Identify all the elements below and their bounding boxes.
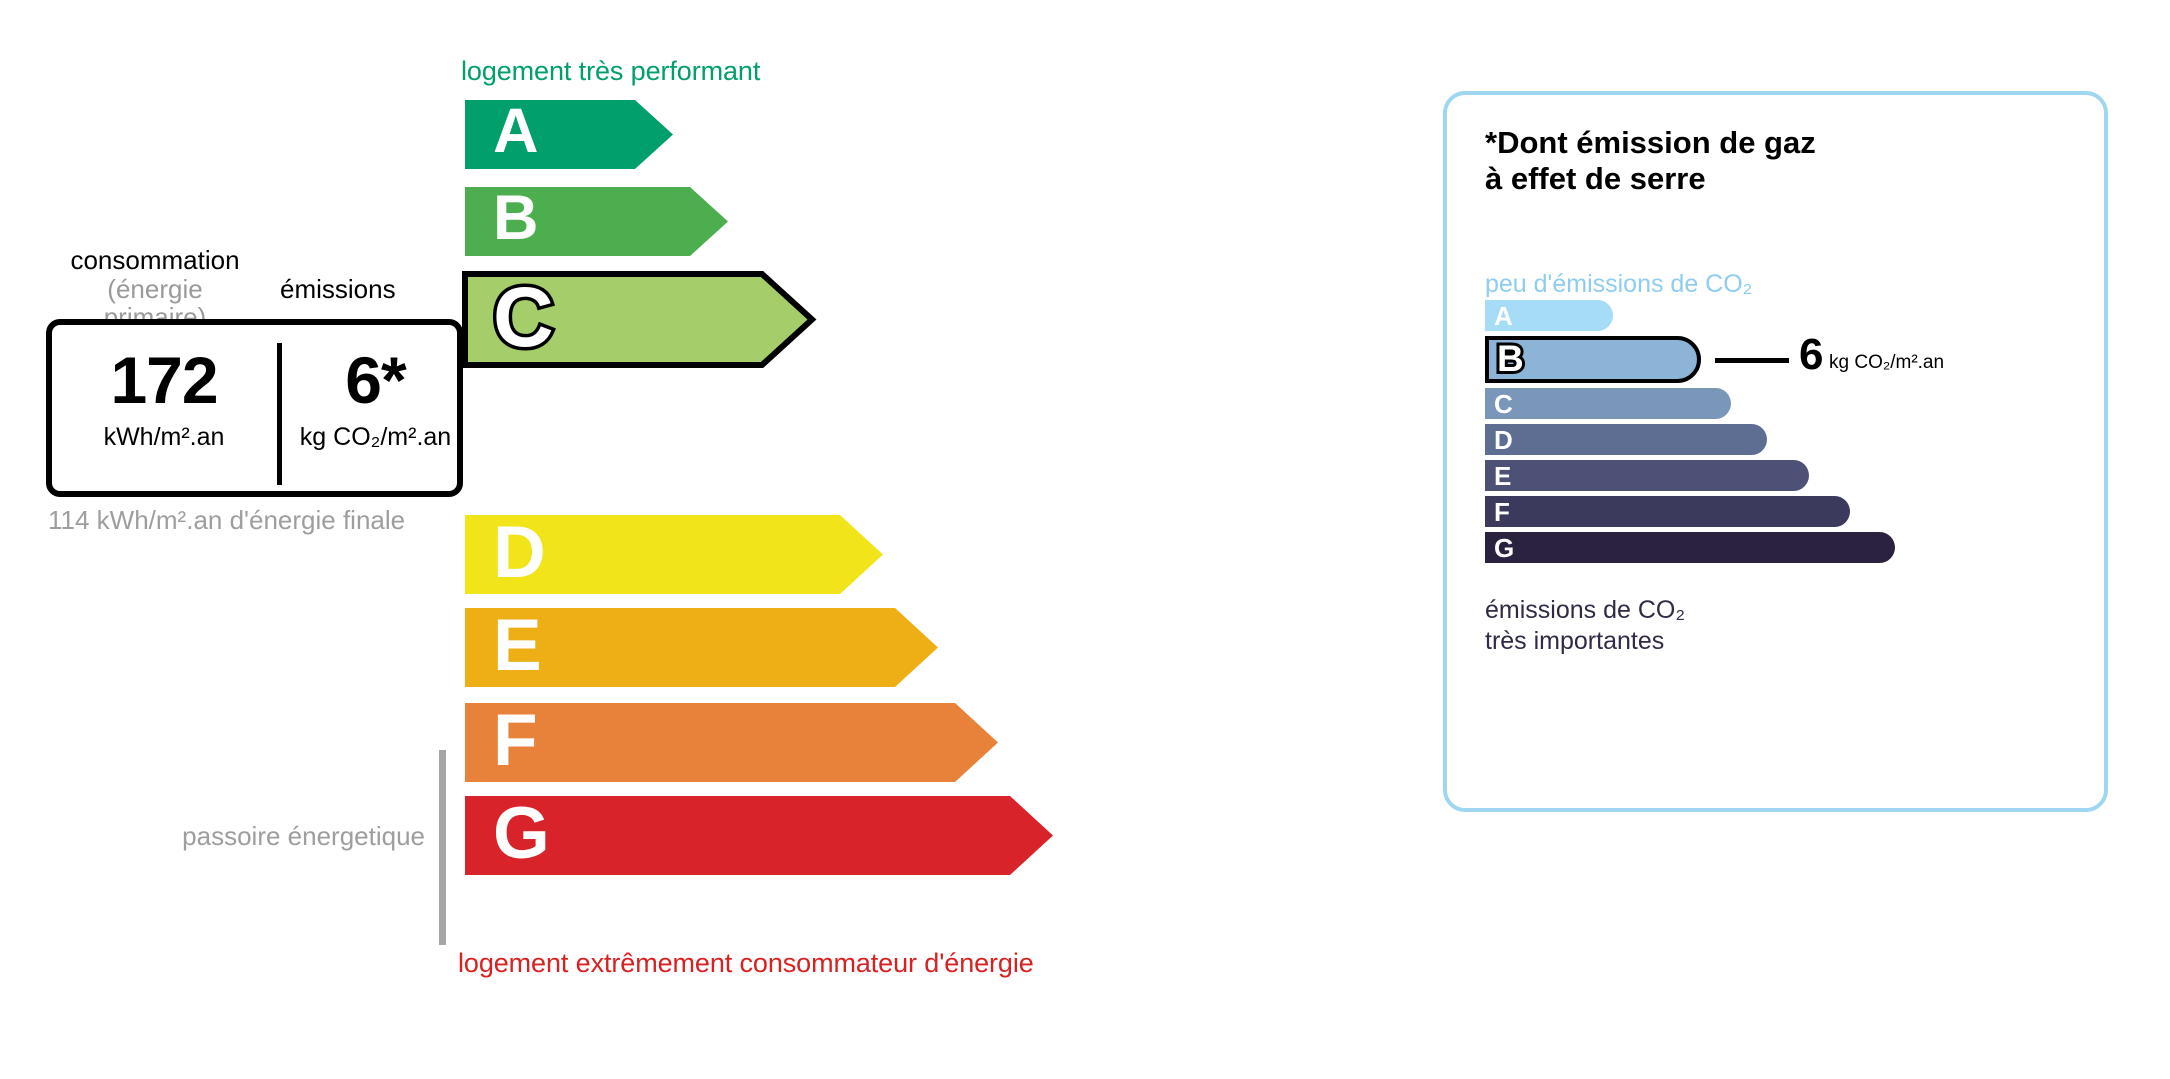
emissions-label: émissions	[280, 275, 396, 304]
emissions-unit: kg CO₂/m².an	[282, 425, 469, 450]
co2-bottom-caption: émissions de CO₂ très importantes	[1485, 595, 1685, 656]
co2-class-bar-e	[1485, 460, 1809, 491]
co2-callout-unit: kg CO₂/m².an	[1829, 353, 1944, 372]
dpe-diagram: logement très performant ABCDEFG consomm…	[0, 0, 2170, 1079]
co2-panel-title: *Dont émission de gaz à effet de serre	[1485, 125, 1816, 197]
energy-class-letter-d: D	[493, 516, 546, 589]
co2-class-letter-e: E	[1494, 463, 1511, 489]
co2-class-letter-b: B	[1497, 340, 1524, 377]
co2-callout-leader-line	[1715, 358, 1789, 363]
co2-class-bar-d	[1485, 424, 1767, 455]
emissions-value: 6*	[282, 347, 469, 413]
co2-class-row-a: A	[1485, 300, 2085, 336]
energy-class-letter-e: E	[493, 609, 542, 682]
consumption-label-main: consommation	[70, 245, 239, 275]
energy-performance-panel: logement très performant ABCDEFG consomm…	[0, 0, 1380, 1079]
co2-class-row-g: G	[1485, 532, 2085, 568]
co2-class-letter-g: G	[1494, 535, 1514, 561]
co2-class-bar-f	[1485, 496, 1850, 527]
co2-class-bar-c	[1485, 388, 1731, 419]
passoire-marker-bar	[439, 750, 446, 945]
energy-class-arrow-f	[461, 699, 1002, 778]
emissions-cell: 6* kg CO₂/m².an	[282, 325, 469, 491]
final-energy-text: 114 kWh/m².an d'énergie finale	[48, 504, 405, 537]
co2-class-letter-c: C	[1494, 391, 1513, 417]
energy-class-letter-c: C	[493, 275, 554, 359]
energy-class-letter-a: A	[493, 100, 539, 163]
co2-class-row-e: E	[1485, 460, 2085, 496]
energy-class-letter-b: B	[493, 187, 539, 250]
energy-class-arrows: ABCDEFG	[0, 0, 1380, 1079]
co2-class-letter-a: A	[1494, 303, 1513, 329]
consumption-value: 172	[52, 347, 276, 413]
co2-class-row-f: F	[1485, 496, 2085, 532]
energy-class-letter-g: G	[493, 797, 550, 870]
co2-class-letter-d: D	[1494, 427, 1513, 453]
value-box: 172 kWh/m².an 6* kg CO₂/m².an	[46, 319, 463, 497]
co2-class-row-d: D	[1485, 424, 2085, 460]
consumption-cell: 172 kWh/m².an	[52, 325, 276, 491]
passoire-label: passoire énergetique	[180, 820, 425, 853]
co2-class-row-b: B6kg CO₂/m².an	[1485, 336, 2085, 388]
energy-class-arrow-g	[461, 792, 1057, 871]
co2-top-caption: peu d'émissions de CO₂	[1485, 270, 1752, 299]
co2-emissions-panel: *Dont émission de gaz à effet de serre p…	[1443, 91, 2108, 812]
co2-callout-value: 6	[1799, 333, 1823, 377]
energy-scale-bottom-caption: logement extrêmement consommateur d'éner…	[458, 948, 1034, 979]
co2-class-bars: AB6kg CO₂/m².anCDEFG	[1485, 300, 2085, 568]
co2-class-letter-f: F	[1494, 499, 1510, 525]
consumption-unit: kWh/m².an	[52, 425, 276, 450]
energy-class-letter-f: F	[493, 704, 538, 777]
co2-class-bar-g	[1485, 532, 1895, 563]
co2-class-row-c: C	[1485, 388, 2085, 424]
